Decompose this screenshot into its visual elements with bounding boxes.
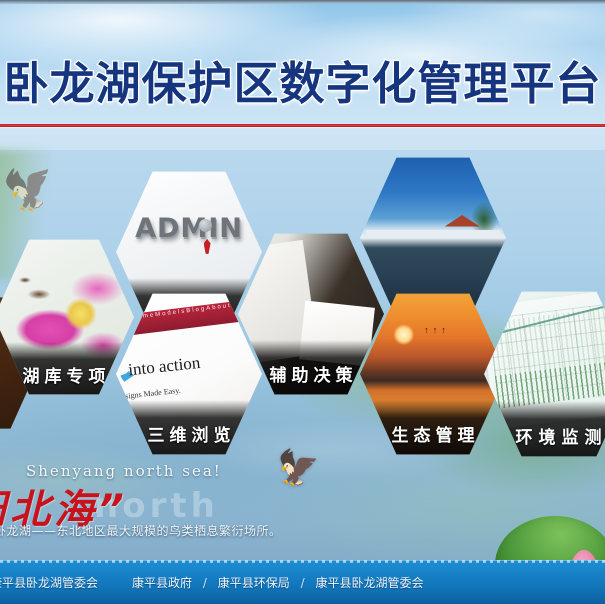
page-root: 卧龙湖保护区数字化管理平台 🦅 🦅 湖库专项 ADMIN 综合管理 辅助决策 [0,0,605,604]
footer-separator: / [301,576,305,590]
footer-dotted-edge [0,560,605,563]
caption-note: 卧龙湖——东北地区最大规模的鸟类栖息繁衍场所。 [0,522,282,539]
footer-bar: 康平县卧龙湖管委会 康平县政府 / 康平县环保局 / 康平县卧龙湖管委会 [0,560,605,604]
top-edge-strip [0,0,605,4]
footer-separator: / [203,576,207,590]
footer-links: 康平县政府 / 康平县环保局 / 康平县卧龙湖管委会 [132,574,423,591]
web-headline-text: into action [127,348,251,381]
web-subtext: signs Made Easy. [125,383,213,401]
bridge-railing-shape [366,230,500,237]
header-divider-line [0,124,605,127]
footer-owner-text: 康平县卧龙湖管委会 [0,574,98,591]
footer-link-epb[interactable]: 康平县环保局 [218,576,290,590]
footer-link-committee[interactable]: 康平县卧龙湖管委会 [315,576,423,590]
admin-art-text: ADMIN [125,213,253,244]
flying-birds-icon: ↑↑↑ [424,325,494,355]
footer-link-government[interactable]: 康平县政府 [132,576,192,590]
